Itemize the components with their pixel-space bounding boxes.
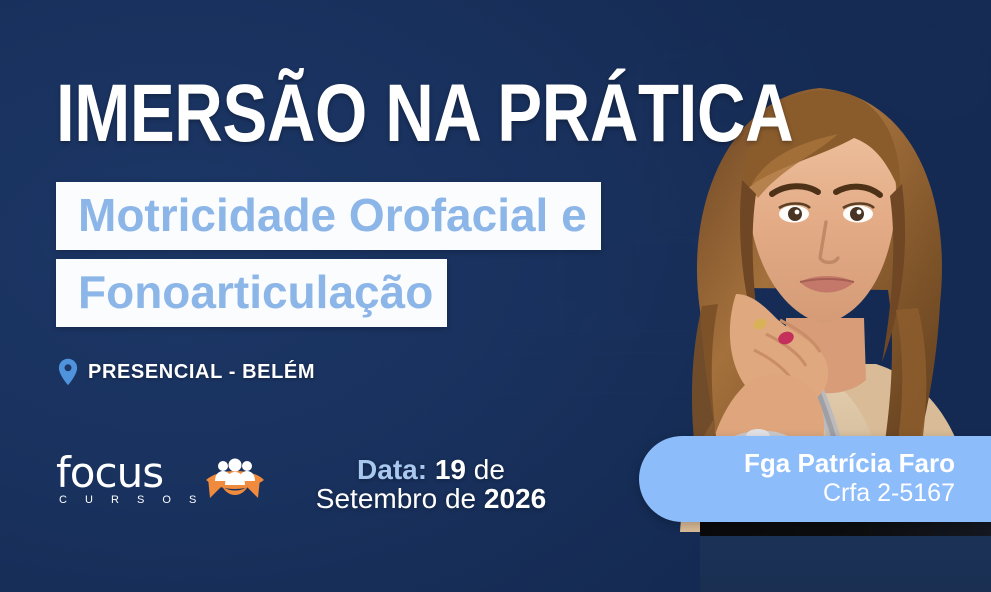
- date-month: Setembro de: [316, 483, 484, 514]
- brand-logo: focus C U R S O S: [56, 452, 256, 514]
- logo-tagline: C U R S O S: [59, 494, 204, 506]
- page-title: IMERSÃO NA PRÁTICA: [56, 78, 793, 150]
- foreground-bottom-fill: [700, 536, 991, 592]
- location-label: PRESENCIAL - BELÉM: [88, 361, 315, 384]
- subtitle-line-2: Fonoarticulação: [56, 259, 447, 327]
- event-date: Data: 19 de Setembro de 2026: [286, 456, 576, 514]
- map-pin-icon: [58, 358, 78, 386]
- location-info: PRESENCIAL - BELÉM: [58, 358, 315, 386]
- subtitle-line-1: Motricidade Orofacial e: [56, 182, 601, 250]
- speaker-name: Fga Patrícia Faro: [744, 448, 955, 479]
- date-year: 2026: [484, 483, 546, 514]
- event-promo-banner: IMERSÃO NA PRÁTICA Motricidade Orofacial…: [0, 0, 991, 592]
- event-date-line-2: Setembro de 2026: [286, 485, 576, 514]
- speaker-badge-text: Fga Patrícia Faro Crfa 2-5167: [744, 448, 955, 508]
- logo-wordmark: focus: [56, 452, 163, 494]
- date-connector: de: [466, 454, 505, 485]
- people-group-icon: [204, 454, 266, 508]
- speaker-registration: Crfa 2-5167: [744, 479, 955, 509]
- event-date-line-1: Data: 19 de: [286, 456, 576, 485]
- date-key-label: Data:: [357, 454, 427, 485]
- speaker-badge: Fga Patrícia Faro Crfa 2-5167: [639, 436, 991, 522]
- date-day: 19: [435, 454, 466, 485]
- subtitle: Motricidade Orofacial e Fonoarticulação: [56, 182, 601, 327]
- foreground-table-edge: [700, 522, 991, 536]
